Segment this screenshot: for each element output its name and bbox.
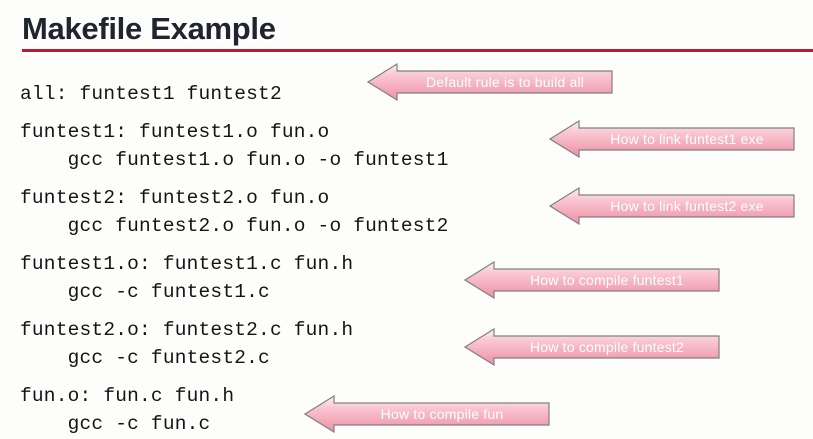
callout-label: Default rule is to build all [397, 63, 613, 101]
code-line: funtest2: funtest2.o fun.o [20, 185, 448, 213]
slide-canvas: Makefile Example all: funtest1 funtest2f… [0, 0, 813, 439]
callout-default-rule: Default rule is to build all [367, 63, 613, 101]
callout-label: How to compile funtest1 [494, 261, 720, 299]
callout-label: How to link funtest1 exe [579, 120, 795, 158]
code-line: gcc funtest2.o fun.o -o funtest2 [20, 213, 448, 241]
callout-label: How to compile funtest2 [494, 328, 720, 366]
code-blank-line [20, 306, 448, 317]
code-blank-line [20, 174, 448, 185]
code-line: funtest2.o: funtest2.c fun.h [20, 317, 448, 345]
code-blank-line [20, 240, 448, 251]
callout-label: How to compile fun [334, 395, 550, 433]
code-line: gcc -c funtest2.c [20, 345, 448, 373]
callout-compile-fun: How to compile fun [304, 395, 550, 433]
callout-compile-funtest2: How to compile funtest2 [464, 328, 720, 366]
code-blank-line [20, 372, 448, 383]
callout-compile-funtest1: How to compile funtest1 [464, 261, 720, 299]
code-line: gcc -c funtest1.c [20, 279, 448, 307]
code-blank-line [20, 108, 448, 119]
makefile-code-block: all: funtest1 funtest2funtest1: funtest1… [20, 81, 448, 439]
page-title: Makefile Example [22, 11, 276, 47]
title-divider [22, 49, 813, 52]
callout-label: How to link funtest2 exe [579, 187, 795, 225]
code-line: funtest1: funtest1.o fun.o [20, 119, 448, 147]
code-line: funtest1.o: funtest1.c fun.h [20, 251, 448, 279]
code-line: gcc funtest1.o fun.o -o funtest1 [20, 147, 448, 175]
callout-link-funtest1: How to link funtest1 exe [549, 120, 795, 158]
callout-link-funtest2: How to link funtest2 exe [549, 187, 795, 225]
